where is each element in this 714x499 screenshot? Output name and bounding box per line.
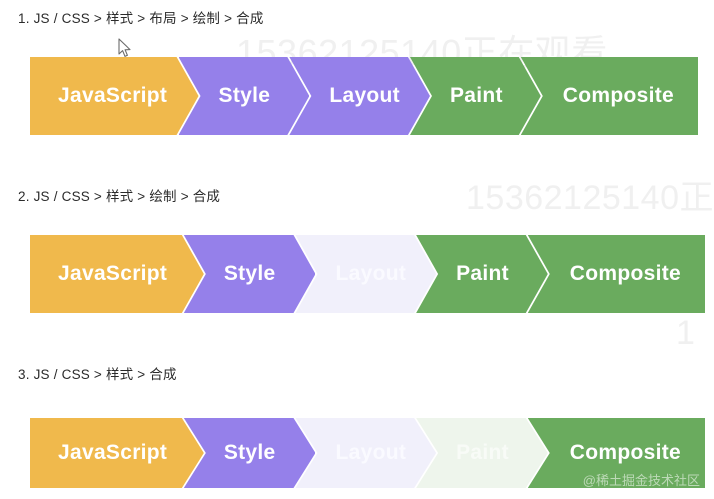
section-title-3: 3. JS / CSS > 样式 > 合成 [18, 363, 177, 383]
stage-label: Style [224, 262, 276, 286]
pipeline-1-stage-composite[interactable]: Composite [521, 57, 698, 135]
stage-label: Composite [563, 84, 674, 108]
stage-label: Composite [570, 441, 681, 465]
pipeline-2-stage-javascript[interactable]: JavaScript [30, 235, 204, 313]
stage-label: Layout [335, 441, 406, 465]
stage-label: Layout [335, 262, 406, 286]
stage-label: Layout [329, 84, 400, 108]
section-title-1: 1. JS / CSS > 样式 > 布局 > 绘制 > 合成 [18, 7, 264, 27]
watermark-viewer-middle: 15362125140正 [466, 170, 714, 219]
pipeline-3-stage-layout[interactable]: Layout [295, 418, 436, 488]
pipeline-2-stage-composite[interactable]: Composite [528, 235, 705, 313]
mouse-cursor-icon [118, 38, 132, 58]
render-pipeline-3: JavaScript Style Layout Paint Composite [30, 418, 705, 488]
stage-label: JavaScript [58, 441, 167, 465]
stage-label: Style [224, 441, 276, 465]
render-pipeline-2: JavaScript Style Layout Paint Composite [30, 235, 705, 313]
stage-label: Paint [456, 441, 509, 465]
stage-label: JavaScript [58, 262, 167, 286]
render-pipeline-1: JavaScript Style Layout Paint Composite [30, 57, 698, 135]
pipeline-2-stage-layout[interactable]: Layout [295, 235, 436, 313]
pipeline-3-stage-composite[interactable]: Composite [528, 418, 705, 488]
stage-label: Style [219, 84, 271, 108]
watermark-viewer-fragment: 1 [676, 314, 695, 353]
stage-label: JavaScript [58, 84, 167, 108]
pipeline-3-stage-javascript[interactable]: JavaScript [30, 418, 204, 488]
stage-label: Composite [570, 262, 681, 286]
pipeline-1-stage-javascript[interactable]: JavaScript [30, 57, 199, 135]
section-title-2: 2. JS / CSS > 样式 > 绘制 > 合成 [18, 185, 220, 205]
stage-label: Paint [456, 262, 509, 286]
slide-canvas: 15362125140正在观看 15362125140正 1 1. JS / C… [0, 0, 714, 499]
pipeline-1-stage-layout[interactable]: Layout [289, 57, 430, 135]
stage-label: Paint [450, 84, 503, 108]
